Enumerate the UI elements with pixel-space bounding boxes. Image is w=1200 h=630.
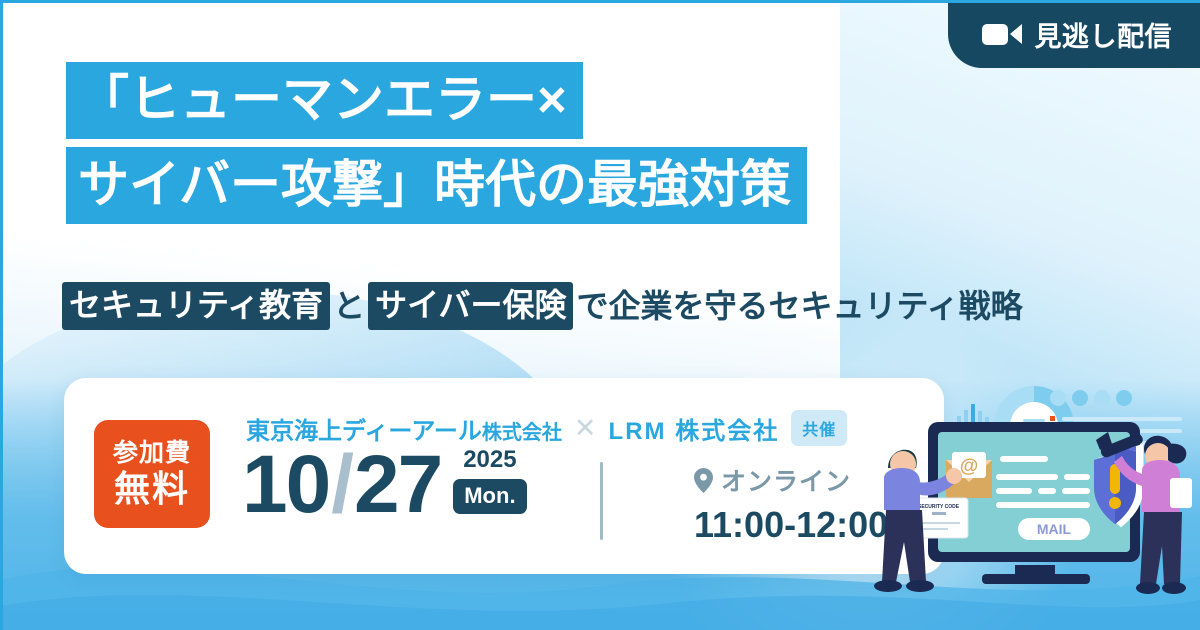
event-weekday: Mon. [453, 479, 526, 514]
headline-row-1: 「ヒューマンエラー× [66, 62, 807, 139]
event-month: 10 [242, 447, 329, 522]
event-time: 11:00-12:00 [694, 504, 888, 546]
cohost-badge: 共催 [791, 410, 847, 446]
video-camera-icon [982, 24, 1022, 45]
event-venue: オンライン 11:00-12:00 [694, 462, 888, 546]
venue-row: オンライン [694, 462, 888, 498]
event-date: 10 / 27 2025 Mon. [242, 446, 527, 522]
host-secondary-suffix: 株式会社 [675, 418, 779, 445]
fee-badge: 参加費 無料 [94, 420, 210, 528]
subtitle: セキュリティ教育 と サイバー保険 で企業を守るセキュリティ戦略 [62, 282, 1026, 330]
headline-line-1: 「ヒューマンエラー× [66, 62, 583, 139]
card-divider [600, 462, 603, 540]
date-slash: / [329, 447, 354, 522]
illustration-card-label: SECURITY CODE [918, 504, 960, 510]
replay-badge[interactable]: 見逃し配信 [948, 0, 1200, 68]
event-day: 27 [354, 447, 441, 522]
page-title: 「ヒューマンエラー× サイバー攻撃」時代の最強対策 [66, 62, 807, 224]
frame-border-left [0, 0, 3, 630]
headline-line-2: サイバー攻撃」時代の最強対策 [66, 147, 807, 224]
headline-row-2: サイバー攻撃」時代の最強対策 [66, 147, 807, 224]
venue-label: オンライン [721, 462, 851, 498]
security-illustration: MAIL @ SECURITY CODE [870, 360, 1200, 630]
replay-badge-label: 見逃し配信 [1035, 15, 1173, 54]
subtitle-chip-insurance: サイバー保険 [368, 282, 573, 330]
host-secondary-name: LRM [609, 418, 667, 445]
fee-badge-top-label: 参加費 [113, 440, 191, 468]
event-date-numerals: 10 / 27 [242, 447, 441, 522]
event-date-side: 2025 Mon. [453, 446, 526, 522]
subtitle-tail: で企業を守るセキュリティ戦略 [573, 290, 1025, 322]
webinar-banner: 見逃し配信 「ヒューマンエラー× サイバー攻撃」時代の最強対策 セキュリティ教育… [0, 0, 1200, 630]
illustration-screen-label: MAIL [1037, 521, 1072, 537]
location-pin-icon [694, 468, 713, 493]
subtitle-chip-education: セキュリティ教育 [62, 282, 330, 330]
host-primary-suffix: 株式会社 [482, 422, 562, 444]
fee-badge-bottom-label: 無料 [114, 470, 190, 508]
host-separator-icon: ✕ [574, 413, 597, 444]
subtitle-connector: と [330, 290, 368, 322]
event-info-card: 参加費 無料 東京海上ディーアール株式会社 ✕ LRM 株式会社 共催 10 /… [64, 378, 944, 574]
illustration-at-symbol: @ [960, 456, 979, 477]
event-year: 2025 [463, 446, 516, 474]
host-secondary: LRM 株式会社 [609, 411, 780, 446]
frame-border-top [0, 0, 1200, 3]
